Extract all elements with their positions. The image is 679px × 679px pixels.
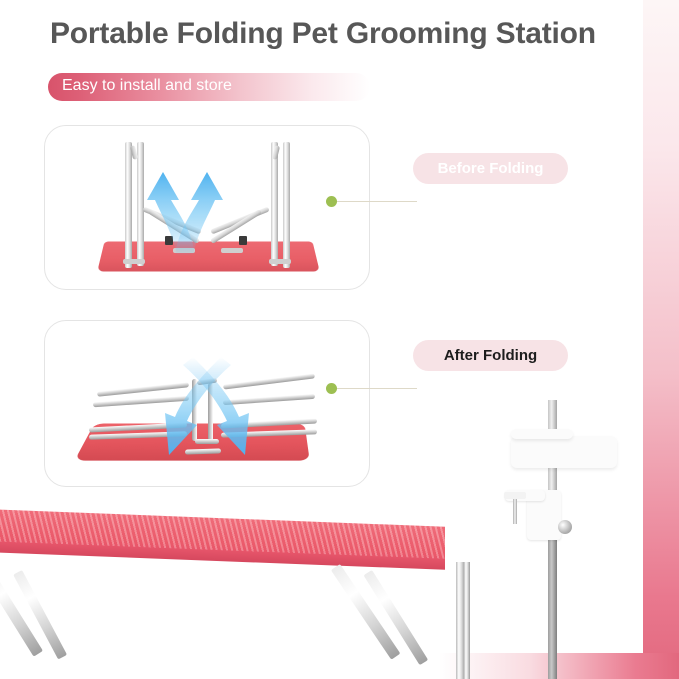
connector-line-after [337,388,417,389]
tagline-text: Easy to install and store [62,77,232,95]
connector-dot-after [326,383,337,394]
connector-dot-before [326,196,337,207]
grooming-arm-post-lower [548,522,557,679]
tagline-badge: Easy to install and store [48,73,370,101]
accessory-tray-lip [511,429,573,439]
panel-after-folding [44,320,370,487]
callout-after-folding: After Folding [413,340,568,371]
fold-down-arrows [45,321,369,486]
hero-product-image [0,500,679,679]
fold-up-arrows [45,126,369,289]
clamp-tighten-nut [558,520,572,534]
callout-after-label: After Folding [444,347,537,364]
clamp-screw-handle [504,492,526,499]
arrow-up-right [175,172,223,256]
accessory-tray [511,436,617,468]
callout-before-folding: Before Folding [413,153,568,184]
hero-leg-post-right-inner [464,562,470,679]
page-title: Portable Folding Pet Grooming Station [50,17,596,51]
panel-before-folding [44,125,370,290]
clamp-screw-shaft [513,498,517,524]
callout-before-label: Before Folding [438,160,544,177]
product-infographic: Portable Folding Pet Grooming Station Ea… [0,0,679,679]
connector-line-before [337,201,417,202]
